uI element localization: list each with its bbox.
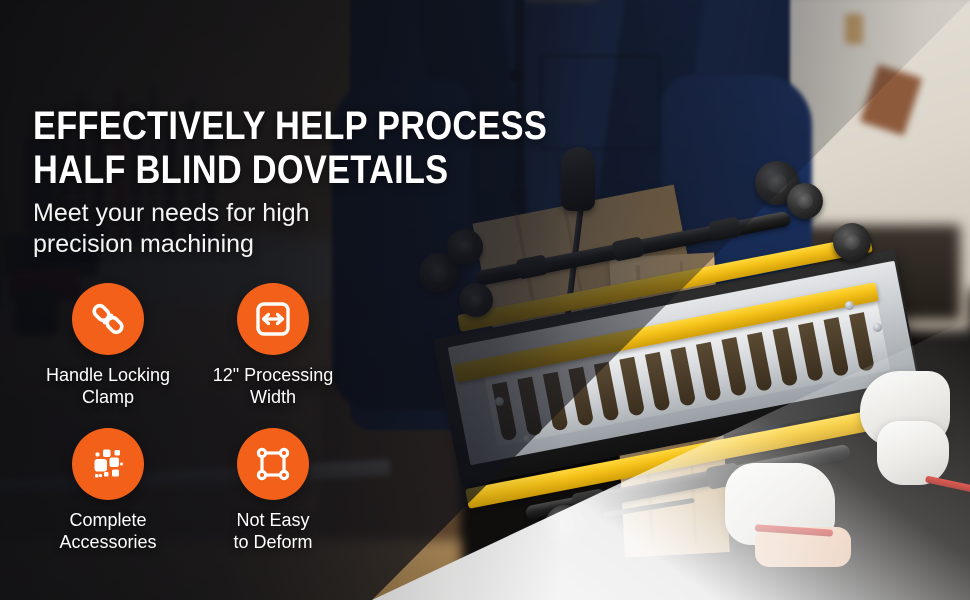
feature-icon-badge [237, 283, 309, 355]
feature-label: 12" Processing Width [193, 364, 353, 408]
feature-item-handle-locking-clamp: Handle Locking Clamp [28, 283, 188, 408]
feature-label: Not Easy to Deform [193, 509, 353, 553]
feature-icon-badge [72, 428, 144, 500]
chain-link-icon [88, 299, 128, 339]
horizontal-arrow-square-icon [253, 299, 293, 339]
feature-item-not-easy-to-deform: Not Easy to Deform [193, 428, 353, 553]
feature-label: Complete Accessories [28, 509, 188, 553]
feature-item-processing-width: 12" Processing Width [193, 283, 353, 408]
feature-icon-badge [237, 428, 309, 500]
square-nodes-icon [253, 444, 293, 484]
banner-content: EFFECTIVELY HELP PROCESS HALF BLIND DOVE… [0, 0, 970, 600]
subtitle: Meet your needs for high precision machi… [33, 198, 310, 260]
feature-label: Handle Locking Clamp [28, 364, 188, 408]
squares-cluster-icon [88, 444, 128, 484]
feature-icon-badge [72, 283, 144, 355]
feature-item-complete-accessories: Complete Accessories [28, 428, 188, 553]
product-banner: EFFECTIVELY HELP PROCESS HALF BLIND DOVE… [0, 0, 970, 600]
page-title: EFFECTIVELY HELP PROCESS HALF BLIND DOVE… [33, 104, 547, 192]
